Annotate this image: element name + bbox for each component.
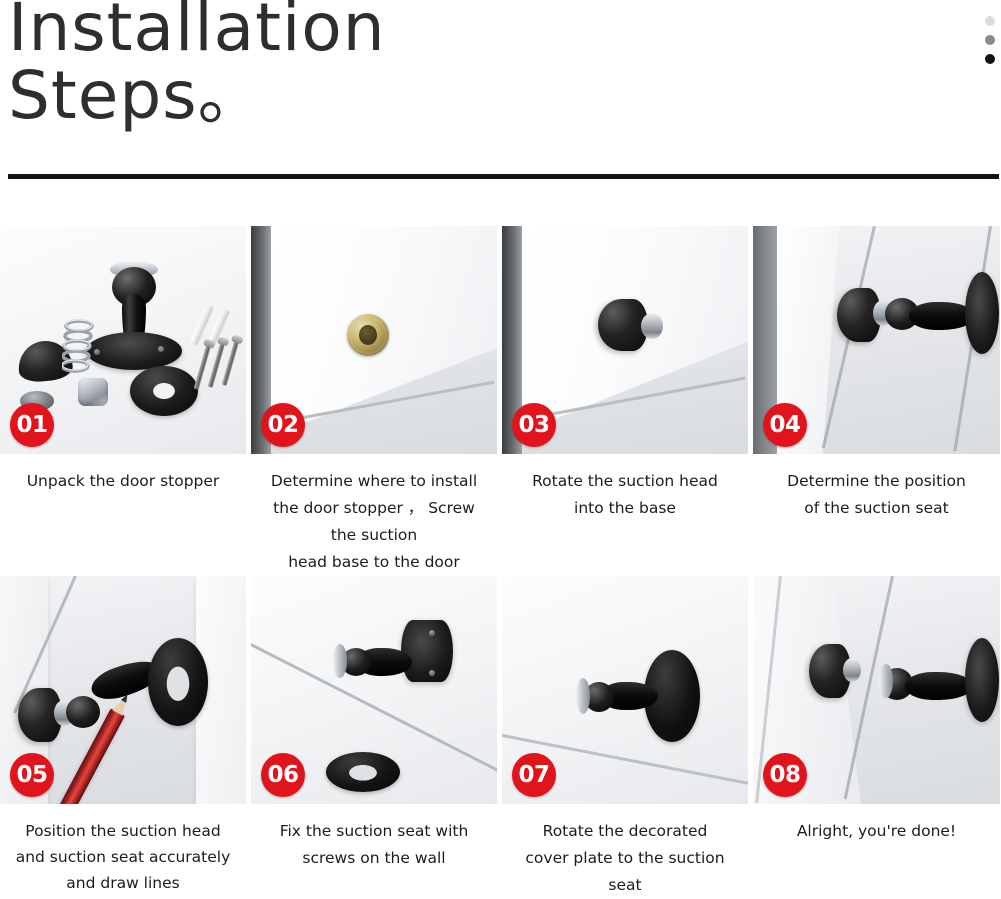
- step-badge-07: 07: [512, 753, 556, 797]
- step-photo-06: 06: [251, 576, 497, 804]
- step-caption-03: Rotate the suction head into the base: [502, 454, 748, 522]
- installation-steps-grid: 01 Unpack the door stopper 02 Determine …: [0, 226, 1001, 899]
- suction-head-chrome-tip: [843, 658, 861, 682]
- chrome-nut-part: [78, 378, 108, 406]
- step-photo-03: 03: [502, 226, 748, 454]
- spring-icon: [62, 318, 96, 376]
- pager-dot-3[interactable]: [985, 54, 995, 64]
- step-card-06: 06 Fix the suction seat with screws on t…: [251, 576, 497, 899]
- suction-head-base: [347, 314, 389, 356]
- seat-screw-icon: [429, 670, 435, 676]
- step-photo-04: 04: [753, 226, 1000, 454]
- pager-dot-1[interactable]: [985, 16, 995, 26]
- step-badge-03: 03: [512, 403, 556, 447]
- step-card-03: 03 Rotate the suction head into the base: [502, 226, 748, 576]
- cover-plate-on-seat: [148, 638, 208, 726]
- suction-seat-collar: [879, 664, 893, 698]
- step-photo-05: 05: [0, 576, 246, 804]
- step-photo-07: 07: [502, 576, 748, 804]
- page-title: Installation Steps。: [8, 0, 386, 130]
- step-card-08: 08 Alright, you're done!: [753, 576, 1000, 899]
- suction-seat-flange: [965, 272, 999, 354]
- cover-plate-ring-part: [130, 366, 198, 416]
- step-badge-04: 04: [763, 403, 807, 447]
- step-photo-02: 02: [251, 226, 497, 454]
- screw-part: [222, 340, 239, 386]
- step-card-07: 07 Rotate the decorated cover plate to t…: [502, 576, 748, 899]
- suction-seat-flange: [965, 638, 999, 722]
- step-caption-08: Alright, you're done!: [753, 804, 1000, 845]
- step-badge-08: 08: [763, 753, 807, 797]
- step-badge-05: 05: [10, 753, 54, 797]
- step-caption-04: Determine the position of the suction se…: [753, 454, 1000, 522]
- step-badge-02: 02: [261, 403, 305, 447]
- suction-seat-collar: [333, 644, 347, 678]
- step-card-04: 04 Determine the position of the suction…: [753, 226, 1000, 576]
- step-caption-05: Position the suction head and suction se…: [0, 804, 246, 896]
- step-caption-06: Fix the suction seat with screws on the …: [251, 804, 497, 872]
- step-caption-02: Determine where to install the door stop…: [251, 454, 497, 576]
- suction-seat-stem: [905, 672, 973, 700]
- cover-plate-ring-loose: [326, 752, 400, 792]
- flange-screw-hole-icon: [158, 346, 164, 352]
- step-badge-01: 01: [10, 403, 54, 447]
- suction-seat-collar: [576, 678, 590, 714]
- title-divider: [8, 174, 999, 179]
- step-caption-01: Unpack the door stopper: [0, 454, 246, 495]
- step-photo-01: 01: [0, 226, 246, 454]
- suction-head-chrome-tip: [641, 313, 663, 339]
- suction-seat-ball: [66, 696, 100, 728]
- step-caption-07: Rotate the decorated cover plate to the …: [502, 804, 748, 899]
- step-card-01: 01 Unpack the door stopper: [0, 226, 246, 576]
- pager-dots[interactable]: [985, 16, 995, 64]
- spring-part: [62, 318, 96, 376]
- step-card-05: 05 Position the suction head and suction…: [0, 576, 246, 899]
- step-badge-06: 06: [261, 753, 305, 797]
- stopper-flange-part: [86, 332, 182, 370]
- suction-seat-flange: [401, 620, 453, 682]
- step-photo-08: 08: [753, 576, 1000, 804]
- step-card-02: 02 Determine where to install the door s…: [251, 226, 497, 576]
- pager-dot-2[interactable]: [985, 35, 995, 45]
- page-header: Installation Steps。: [0, 0, 1001, 185]
- seat-screw-icon: [429, 630, 435, 636]
